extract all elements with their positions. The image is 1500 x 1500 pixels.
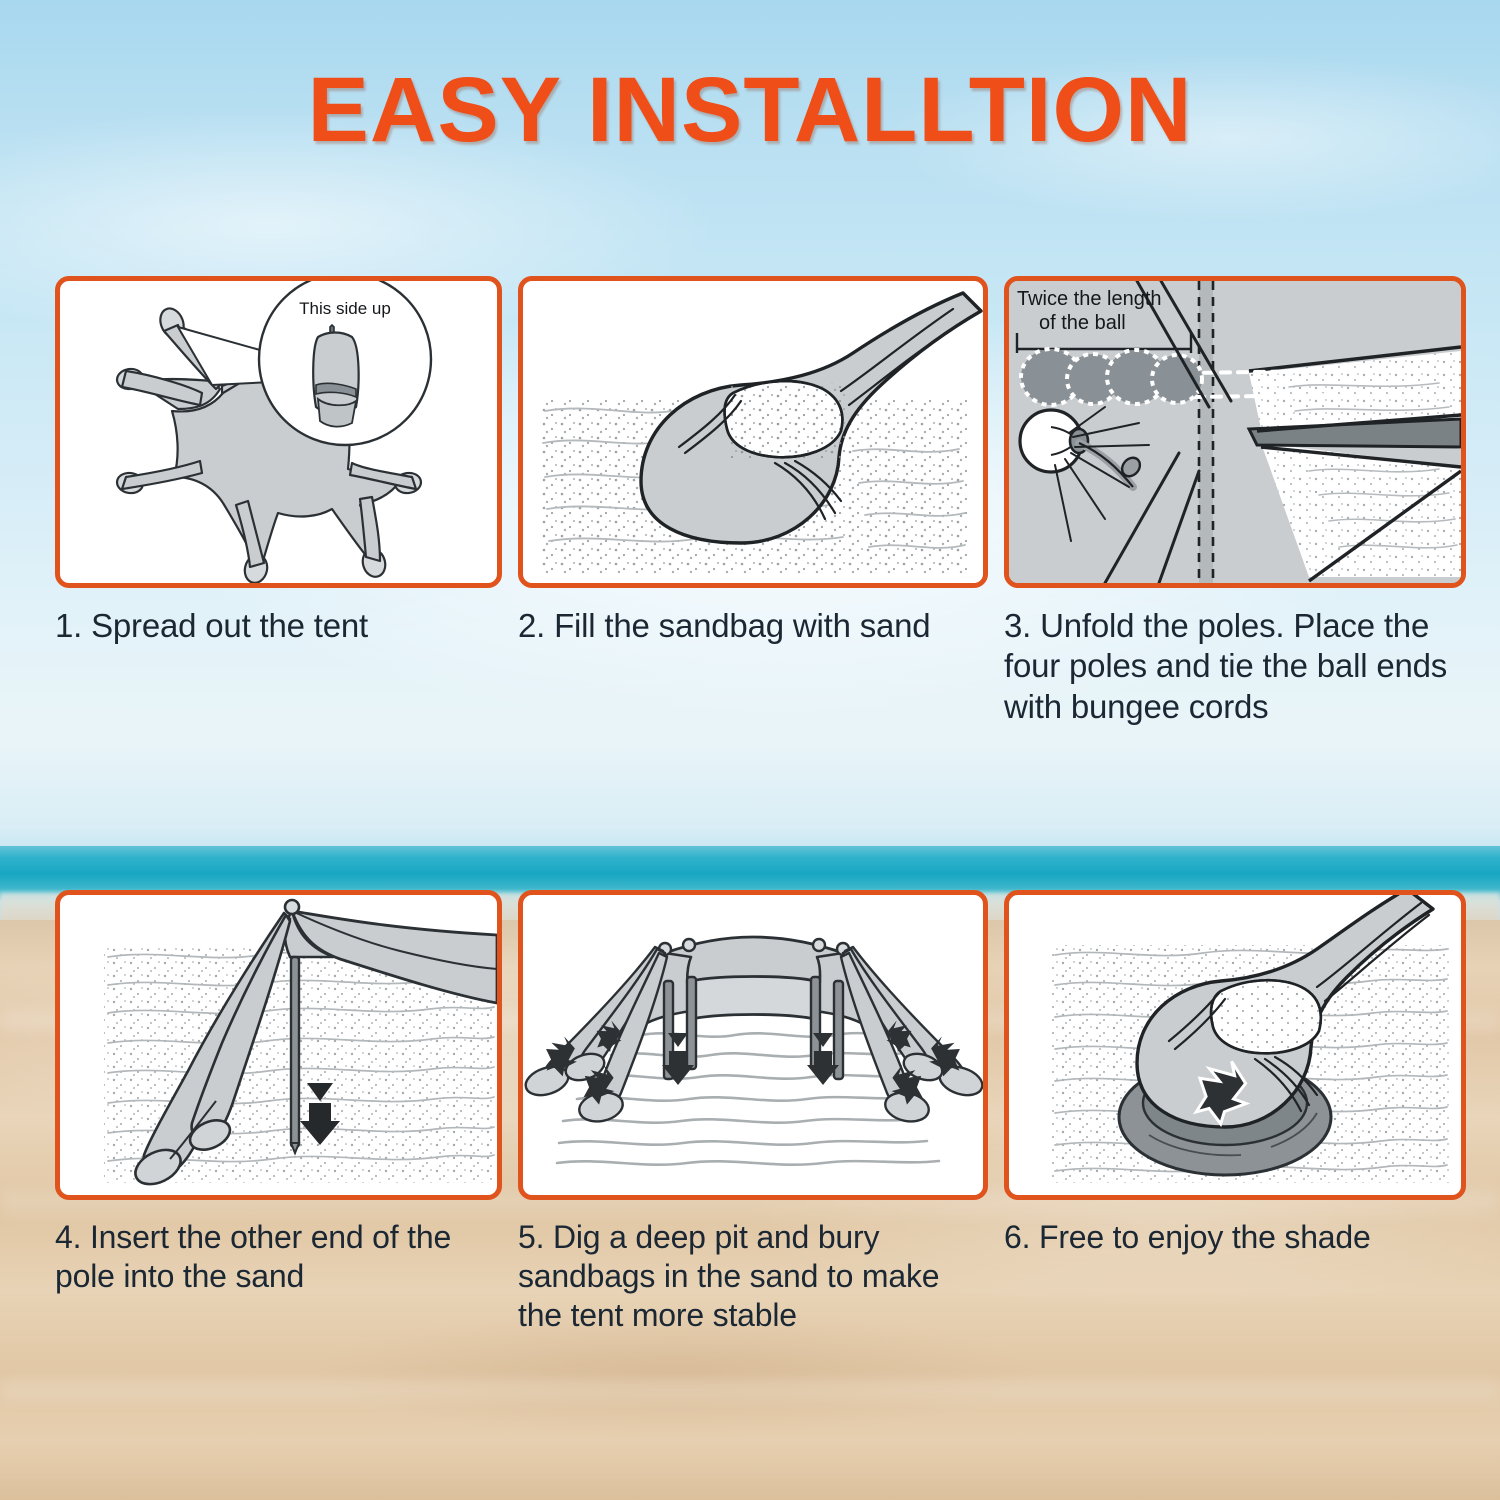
this-side-up-label: This side up xyxy=(299,299,391,318)
canopy xyxy=(647,937,861,1023)
step-1-caption: 1. Spread out the tent xyxy=(55,606,502,646)
step-2: 2. Fill the sandbag with sand xyxy=(518,276,988,727)
step-5-caption: 5. Dig a deep pit and bury sandbags in t… xyxy=(518,1218,988,1335)
assembled-tent-icon xyxy=(523,895,983,1195)
step-3-caption: 3. Unfold the poles. Place the four pole… xyxy=(1004,606,1466,727)
step-3-panel: Twice the length of the ball xyxy=(1004,276,1466,588)
step-3: Twice the length of the ball 3. Unfold t… xyxy=(1004,276,1466,727)
step-2-caption: 2. Fill the sandbag with sand xyxy=(518,606,988,646)
step-1: This side up 1. Spread out the tent xyxy=(55,276,502,727)
twice-length-label-line1: Twice the length xyxy=(1017,288,1162,310)
step-4: 4. Insert the other end of the pole into… xyxy=(55,890,502,1335)
twice-length-label-line2: of the ball xyxy=(1039,312,1126,334)
step-5: 5. Dig a deep pit and bury sandbags in t… xyxy=(518,890,988,1335)
sand-streak-3 xyxy=(0,1380,1500,1400)
step-6-panel xyxy=(1004,890,1466,1200)
step-5-panel xyxy=(518,890,988,1200)
vertical-pole xyxy=(1199,281,1213,583)
step-6-caption: 6. Free to enjoy the shade xyxy=(1004,1218,1466,1257)
sandbag-buried-icon xyxy=(1009,895,1461,1195)
step-4-caption: 4. Insert the other end of the pole into… xyxy=(55,1218,502,1296)
sandbag-filling-icon xyxy=(523,281,983,583)
steps-row-bottom: 4. Insert the other end of the pole into… xyxy=(55,890,1450,1335)
vertical-pole xyxy=(291,957,299,1153)
tent-canopy-spread-icon: This side up xyxy=(60,281,497,583)
infographic-canvas: EASY INSTALLTION xyxy=(0,0,1500,1500)
pole-bungee-ball-icon: Twice the length of the ball xyxy=(1009,281,1461,583)
steps-row-top: This side up 1. Spread out the tent xyxy=(55,276,1450,727)
step-4-panel xyxy=(55,890,502,1200)
page-title: EASY INSTALLTION xyxy=(0,58,1500,163)
step-2-panel xyxy=(518,276,988,588)
pole-into-sand-icon xyxy=(60,895,497,1195)
step-1-panel: This side up xyxy=(55,276,502,588)
step-6: 6. Free to enjoy the shade xyxy=(1004,890,1466,1335)
